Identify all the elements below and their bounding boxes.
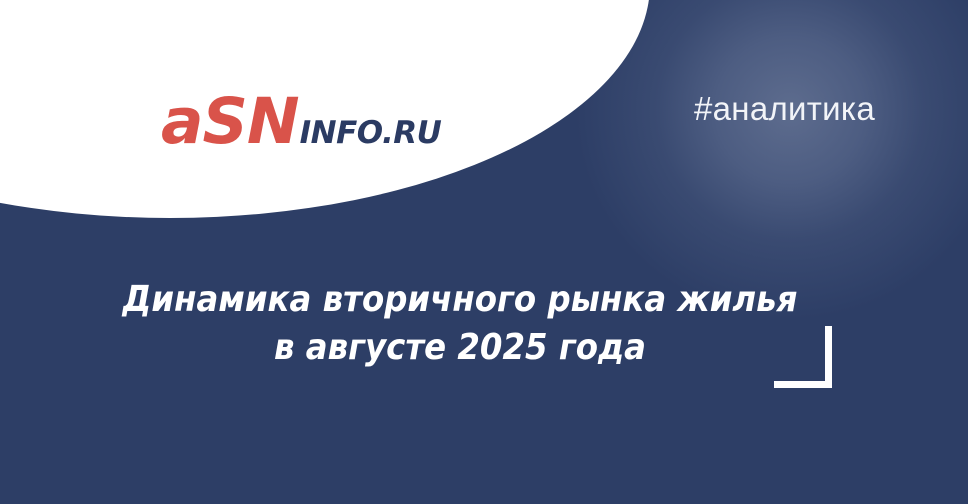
corner-bracket-horizontal-line — [774, 381, 832, 388]
analytics-banner: aSN INFO.RU #аналитика Динамика вторично… — [0, 0, 968, 504]
page-title-line-2: в августе 2025 года — [46, 324, 874, 372]
hashtag-label[interactable]: #аналитика — [694, 90, 875, 128]
page-title-line-1: Динамика вторичного рынка жилья — [46, 276, 874, 324]
corner-bracket-vertical-line — [825, 326, 832, 388]
logo-secondary-text: INFO.RU — [300, 118, 442, 149]
corner-bracket-icon — [774, 326, 832, 388]
asninfo-logo[interactable]: aSN INFO.RU — [161, 90, 441, 152]
logo-primary-text: aSN — [161, 90, 299, 153]
radial-glow-decoration — [575, 0, 968, 320]
